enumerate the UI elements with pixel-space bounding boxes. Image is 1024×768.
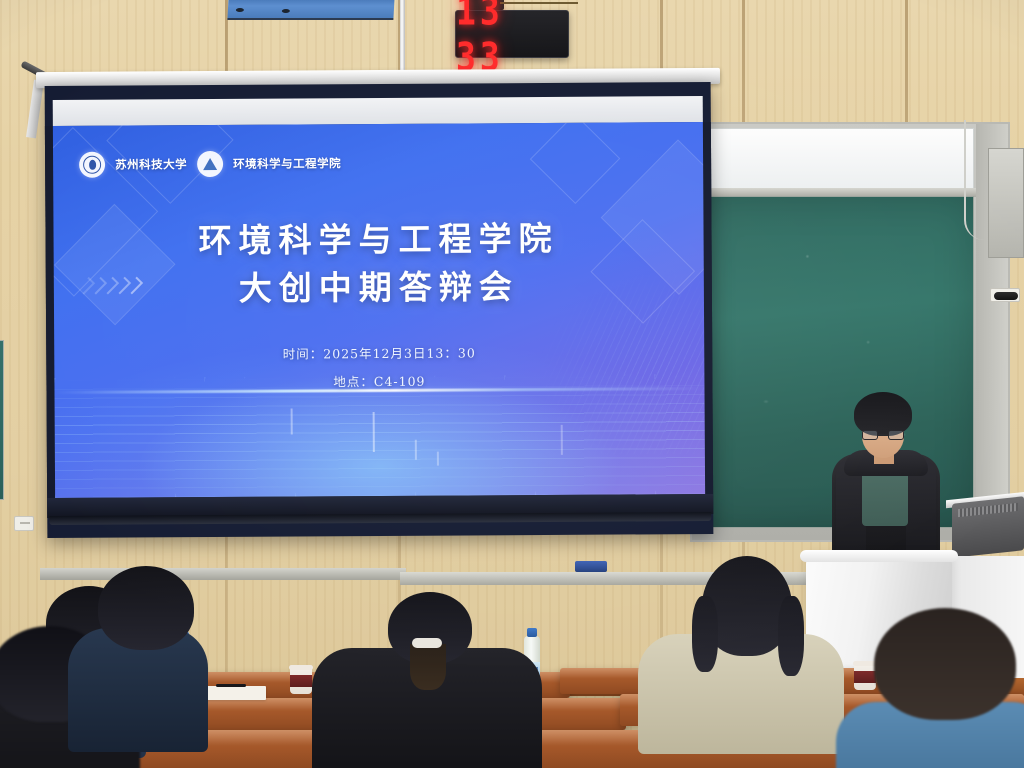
screen-top-margin xyxy=(53,96,703,126)
wall-utility-box xyxy=(988,148,1024,258)
spark-line xyxy=(373,412,375,452)
slide-title-block: 环境科学与工程学院 大创中期答辩会 xyxy=(53,214,704,314)
university-name: 苏州科技大学 xyxy=(115,156,187,172)
chalkboard-left-section xyxy=(0,340,4,500)
attendee-hair xyxy=(692,596,718,672)
wall-digital-clock: 13 33 xyxy=(455,10,569,58)
university-logo-icon xyxy=(79,152,105,178)
power-outlet[interactable] xyxy=(14,516,34,531)
classroom-photo-scene: 13 33 xyxy=(0,0,1024,768)
wall-switch[interactable] xyxy=(990,288,1020,302)
slide-title-line1: 环境科学与工程学院 xyxy=(53,214,703,266)
presenter xyxy=(818,392,938,572)
college-logo-icon xyxy=(197,151,223,177)
projection-screen: 苏州科技大学 环境科学与工程学院 环境科学与工程学院 大创中期答辩会 时间：20… xyxy=(45,82,714,538)
attendee-hair xyxy=(778,596,804,676)
chalk-tray-left xyxy=(40,568,406,580)
upper-window xyxy=(227,0,394,20)
attendee-ponytail xyxy=(410,644,446,690)
college-name: 环境科学与工程学院 xyxy=(233,155,341,172)
attendee-head xyxy=(874,608,1016,720)
glasses-icon xyxy=(862,430,904,440)
spark-line xyxy=(561,425,563,455)
slide-title-line2: 大创中期答辩会 xyxy=(54,262,704,314)
slide-place-label: 地点：C4-109 xyxy=(54,366,704,397)
presentation-slide: 苏州科技大学 环境科学与工程学院 环境科学与工程学院 大创中期答辩会 时间：20… xyxy=(53,122,705,498)
spark-line xyxy=(437,452,439,466)
whiteboard-panel xyxy=(696,128,974,192)
slide-meta-block: 时间：2025年12月3日13：30 地点：C4-109 xyxy=(54,338,704,397)
diamond-decoration xyxy=(530,122,621,204)
pen[interactable] xyxy=(216,684,246,687)
blackboard-eraser[interactable] xyxy=(575,561,607,572)
slide-header-logos: 苏州科技大学 环境科学与工程学院 xyxy=(79,150,341,178)
monitor-vent xyxy=(958,503,1018,517)
coffee-cup[interactable] xyxy=(854,664,876,690)
podium-monitor xyxy=(952,496,1024,558)
spark-line xyxy=(291,409,293,435)
coffee-cup[interactable] xyxy=(290,668,312,694)
hair-tie xyxy=(412,638,442,648)
attendee-head xyxy=(98,566,194,650)
slide-time-label: 时间：2025年12月3日13：30 xyxy=(54,338,704,369)
podium-top-surface xyxy=(800,550,958,562)
spark-line xyxy=(415,440,417,460)
